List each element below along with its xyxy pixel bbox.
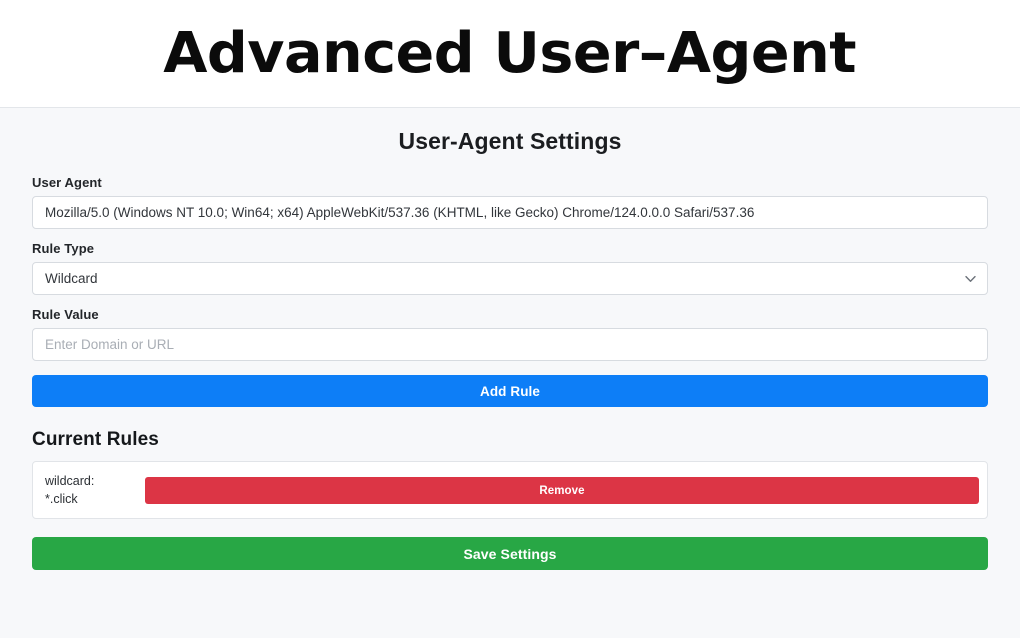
user-agent-label: User Agent — [32, 175, 988, 190]
rule-value-field-group: Rule Value — [32, 307, 988, 361]
current-rules-list: wildcard: *.click Remove — [32, 461, 988, 519]
remove-rule-button[interactable]: Remove — [145, 477, 979, 504]
page-title: Advanced User–Agent — [164, 26, 857, 82]
rule-value-label: Rule Value — [32, 307, 988, 322]
current-rules-heading: Current Rules — [32, 429, 988, 451]
app-header: Advanced User–Agent — [0, 0, 1020, 108]
add-rule-button[interactable]: Add Rule — [32, 375, 988, 407]
panel-title: User-Agent Settings — [32, 128, 988, 155]
save-settings-button[interactable]: Save Settings — [32, 537, 988, 570]
rule-value-text: *.click — [45, 490, 137, 508]
settings-panel: User-Agent Settings User Agent Rule Type… — [0, 108, 1020, 638]
user-agent-field-group: User Agent — [32, 175, 988, 229]
rule-action-cell: Remove — [145, 477, 979, 504]
user-agent-input[interactable] — [32, 196, 988, 229]
rule-value-input[interactable] — [32, 328, 988, 361]
rule-type-text: wildcard: — [45, 472, 137, 490]
rule-description: wildcard: *.click — [45, 472, 137, 508]
rule-type-select[interactable]: Wildcard — [32, 262, 988, 295]
rule-type-field-group: Rule Type Wildcard — [32, 241, 988, 295]
list-item: wildcard: *.click Remove — [45, 472, 979, 508]
rule-type-label: Rule Type — [32, 241, 988, 256]
